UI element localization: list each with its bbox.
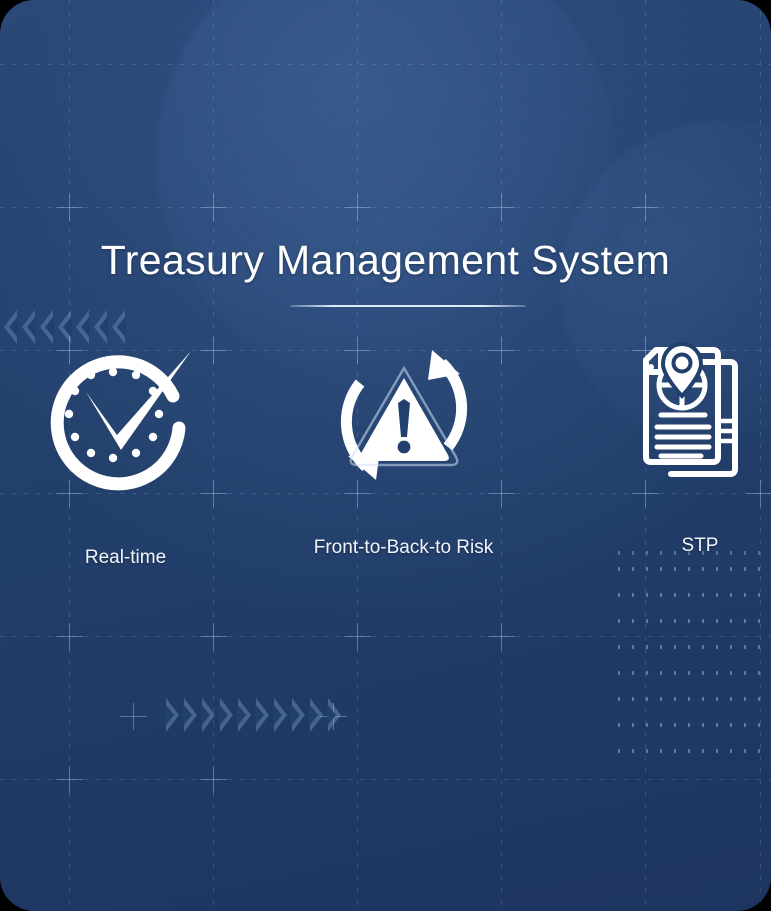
grid-hline bbox=[0, 636, 771, 637]
grid-plus-mark bbox=[200, 623, 227, 650]
grid-plus-mark bbox=[488, 623, 515, 650]
page-title: Treasury Management System bbox=[0, 237, 771, 284]
warning-cycle-icon bbox=[301, 334, 506, 496]
treasury-management-card: Treasury Management System bbox=[0, 0, 771, 911]
grid-hline bbox=[0, 207, 771, 208]
feature-label-real-time: Real-time bbox=[23, 544, 228, 571]
feature-front-to-back-to-risk: Front-to-Back-to Risk bbox=[301, 334, 506, 561]
chevrons-right-icon bbox=[166, 698, 346, 732]
grid-plus-mark bbox=[200, 766, 227, 793]
globe-glow-shape bbox=[156, 0, 616, 388]
grid-plus-mark bbox=[56, 194, 83, 221]
grid-plus-mark bbox=[56, 623, 83, 650]
documents-location-icon bbox=[625, 338, 771, 486]
grid-plus-mark bbox=[632, 194, 659, 221]
grid-plus-mark bbox=[320, 703, 347, 730]
feature-label-stp: STP bbox=[625, 532, 771, 559]
grid-plus-mark bbox=[200, 194, 227, 221]
feature-stp: STP bbox=[625, 338, 771, 559]
grid-plus-mark bbox=[488, 194, 515, 221]
dot-grid-pattern bbox=[612, 556, 771, 756]
grid-hline bbox=[0, 779, 771, 780]
grid-plus-mark bbox=[344, 194, 371, 221]
feature-label-front-to-back-to-risk: Front-to-Back-to Risk bbox=[301, 534, 506, 561]
clock-check-icon bbox=[23, 336, 228, 502]
grid-plus-mark bbox=[56, 766, 83, 793]
grid-plus-mark bbox=[120, 703, 147, 730]
title-divider bbox=[290, 305, 526, 307]
grid-plus-mark bbox=[344, 623, 371, 650]
grid-hline bbox=[0, 64, 771, 65]
feature-real-time: Real-time bbox=[23, 336, 228, 571]
